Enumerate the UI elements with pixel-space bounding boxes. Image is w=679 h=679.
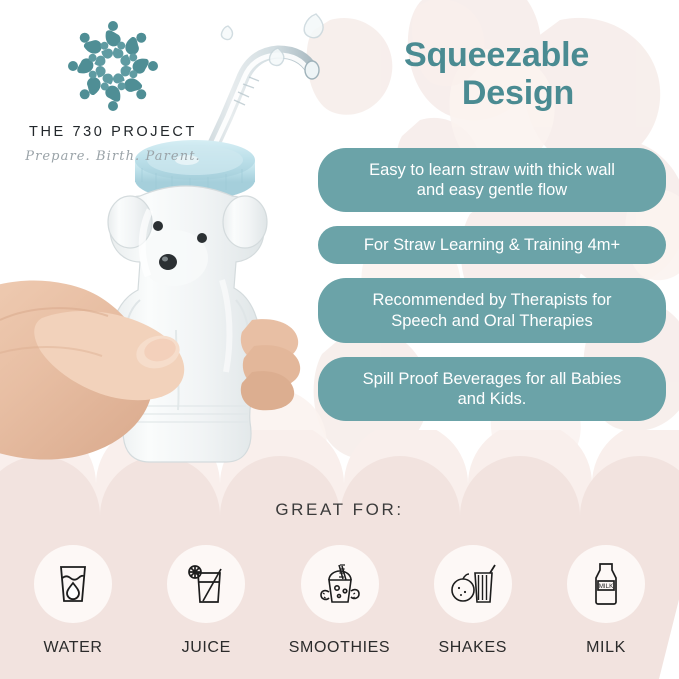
- use-item-juice: JUICE: [147, 545, 265, 657]
- use-label: WATER: [14, 639, 132, 657]
- milkshake-glass-icon: [434, 545, 512, 623]
- feature-pill-list: Easy to learn straw with thick wall and …: [318, 148, 666, 421]
- use-item-water: WATER: [14, 545, 132, 657]
- use-item-smoothies: SMOOTHIES: [281, 545, 399, 657]
- headline-line-2: Design: [404, 74, 666, 112]
- use-item-milk: MILK MILK: [547, 545, 665, 657]
- feature-pill: Easy to learn straw with thick wall and …: [318, 148, 666, 212]
- feature-pill-line: Easy to learn straw with thick wall: [369, 161, 615, 179]
- brand-logo-block: THE 730 PROJECT Prepare. Birth. Parent.: [8, 14, 218, 164]
- uses-heading: GREAT FOR:: [0, 500, 679, 520]
- promo-image-canvas: THE 730 PROJECT Prepare. Birth. Parent. …: [0, 0, 679, 679]
- smoothie-cup-icon: [301, 545, 379, 623]
- use-label: SHAKES: [414, 639, 532, 657]
- uses-icon-row: WATER JUICE: [14, 545, 665, 657]
- use-label: MILK: [547, 639, 665, 657]
- feature-pill-line: Speech and Oral Therapies: [391, 312, 593, 330]
- feature-pill-line: and easy gentle flow: [417, 181, 567, 199]
- milk-bottle-icon: MILK: [567, 545, 645, 623]
- juice-glass-icon: [167, 545, 245, 623]
- brand-tagline: Prepare. Birth. Parent.: [8, 149, 218, 164]
- milk-bottle-label: MILK: [599, 583, 614, 590]
- feature-pill-line: For Straw Learning & Training 4m+: [364, 235, 620, 255]
- use-label: SMOOTHIES: [281, 639, 399, 657]
- feature-pill-line: Recommended by Therapists for: [372, 291, 611, 309]
- feature-pill: For Straw Learning & Training 4m+: [318, 226, 666, 264]
- page-title: Squeezable Design: [404, 36, 666, 112]
- feature-pill: Recommended by Therapists for Speech and…: [318, 278, 666, 342]
- brand-name: THE 730 PROJECT: [8, 124, 218, 140]
- headline-line-1: Squeezable: [404, 36, 666, 74]
- feature-pill: Spill Proof Beverages for all Babies and…: [318, 357, 666, 421]
- feature-pill-line: Spill Proof Beverages for all Babies: [363, 370, 622, 388]
- use-item-shakes: SHAKES: [414, 545, 532, 657]
- use-label: JUICE: [147, 639, 265, 657]
- circle-of-people-logo-icon: [61, 14, 165, 118]
- water-glass-icon: [34, 545, 112, 623]
- feature-pill-line: and Kids.: [458, 390, 527, 408]
